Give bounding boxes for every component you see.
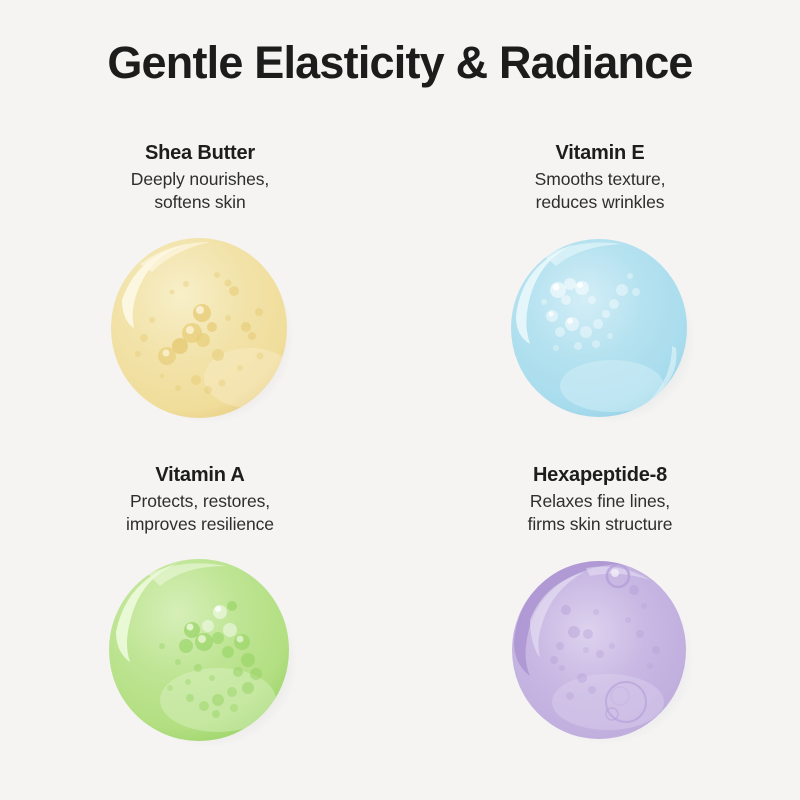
- gel-blob-yellow: [100, 228, 300, 428]
- gel-blob-green: [100, 550, 300, 750]
- gel-blob-purple: [500, 550, 700, 750]
- description-line-2: firms skin structure: [528, 514, 673, 534]
- description-line-2: softens skin: [154, 192, 245, 212]
- description-line-1: Protects, restores,: [130, 491, 270, 511]
- ingredient-description: Deeply nourishes, softens skin: [131, 168, 269, 214]
- ingredient-infographic: Gentle Elasticity & Radiance Shea Butter…: [0, 0, 800, 800]
- description-line-2: improves resilience: [126, 514, 274, 534]
- ingredient-card-shea-butter: Shea Butter Deeply nourishes, softens sk…: [0, 140, 400, 462]
- gel-blob-blue: [500, 228, 700, 428]
- ingredient-description: Relaxes fine lines, firms skin structure: [528, 490, 673, 536]
- gel-blob-yellow-graphic: [100, 228, 300, 428]
- gel-blob-purple-graphic: [500, 550, 700, 750]
- description-line-2: reduces wrinkles: [536, 192, 665, 212]
- ingredient-heading: Vitamin E: [556, 140, 645, 166]
- ingredient-description: Smooths texture, reduces wrinkles: [535, 168, 666, 214]
- ingredient-heading: Vitamin A: [155, 462, 244, 488]
- gel-blob-blue-graphic: [500, 228, 700, 428]
- gel-blob-green-graphic: [100, 550, 300, 750]
- description-line-1: Relaxes fine lines,: [530, 491, 670, 511]
- ingredient-heading: Hexapeptide-8: [533, 462, 667, 488]
- page-title: Gentle Elasticity & Radiance: [0, 34, 800, 92]
- ingredient-card-hexapeptide-8: Hexapeptide-8 Relaxes fine lines, firms …: [400, 462, 800, 784]
- ingredient-grid: Shea Butter Deeply nourishes, softens sk…: [0, 140, 800, 784]
- ingredient-heading: Shea Butter: [145, 140, 255, 166]
- ingredient-description: Protects, restores, improves resilience: [126, 490, 274, 536]
- description-line-1: Deeply nourishes,: [131, 169, 269, 189]
- description-line-1: Smooths texture,: [535, 169, 666, 189]
- ingredient-card-vitamin-e: Vitamin E Smooths texture, reduces wrink…: [400, 140, 800, 462]
- ingredient-card-vitamin-a: Vitamin A Protects, restores, improves r…: [0, 462, 400, 784]
